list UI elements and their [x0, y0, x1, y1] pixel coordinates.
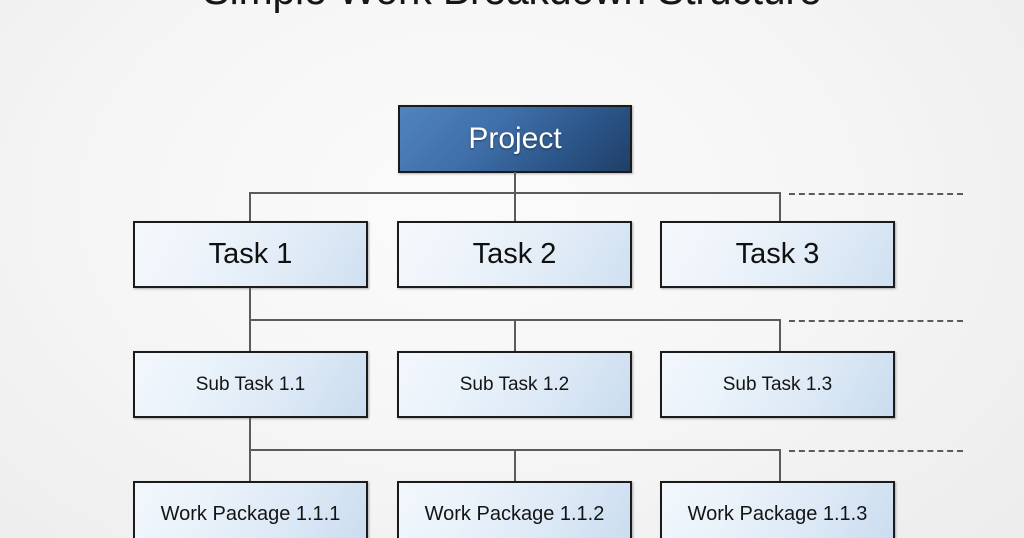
node-task-3-label: Task 3: [736, 238, 820, 271]
connector-drop-task-1: [249, 192, 251, 222]
node-sub-task-1-2-label: Sub Task 1.2: [460, 374, 570, 396]
slide-canvas: Simple Work Breakdown Structure Project …: [0, 0, 1024, 538]
node-sub-task-1-2[interactable]: Sub Task 1.2: [397, 351, 632, 418]
node-project-label: Project: [468, 122, 561, 156]
connector-bus-tasks-continuation: [789, 193, 963, 195]
connector-bus-tasks: [249, 192, 781, 194]
node-sub-task-1-1-label: Sub Task 1.1: [196, 374, 306, 396]
connector-root-stem: [514, 172, 516, 222]
node-work-package-1-1-2-label: Work Package 1.1.2: [425, 503, 605, 526]
node-task-1[interactable]: Task 1: [133, 221, 368, 288]
node-work-package-1-1-3[interactable]: Work Package 1.1.3: [660, 481, 895, 538]
connector-bus-subtasks-continuation: [789, 320, 963, 322]
connector-bus-workpackages-continuation: [789, 450, 963, 452]
node-project[interactable]: Project: [398, 105, 632, 173]
node-work-package-1-1-1[interactable]: Work Package 1.1.1: [133, 481, 368, 538]
page-title: Simple Work Breakdown Structure: [36, 0, 988, 16]
node-sub-task-1-3-label: Sub Task 1.3: [723, 374, 833, 396]
connector-drop-task-3: [779, 192, 781, 222]
node-sub-task-1-3[interactable]: Sub Task 1.3: [660, 351, 895, 418]
connector-drop-workpackage-3: [779, 449, 781, 482]
node-sub-task-1-1[interactable]: Sub Task 1.1: [133, 351, 368, 418]
node-task-2[interactable]: Task 2: [397, 221, 632, 288]
node-task-3[interactable]: Task 3: [660, 221, 895, 288]
connector-drop-subtask-3: [779, 319, 781, 352]
node-task-2-label: Task 2: [473, 238, 557, 271]
node-work-package-1-1-3-label: Work Package 1.1.3: [688, 503, 868, 526]
connector-drop-workpackage-2: [514, 449, 516, 482]
node-work-package-1-1-2[interactable]: Work Package 1.1.2: [397, 481, 632, 538]
connector-drop-subtask-2: [514, 319, 516, 352]
node-task-1-label: Task 1: [209, 238, 293, 271]
node-work-package-1-1-1-label: Work Package 1.1.1: [161, 503, 341, 526]
